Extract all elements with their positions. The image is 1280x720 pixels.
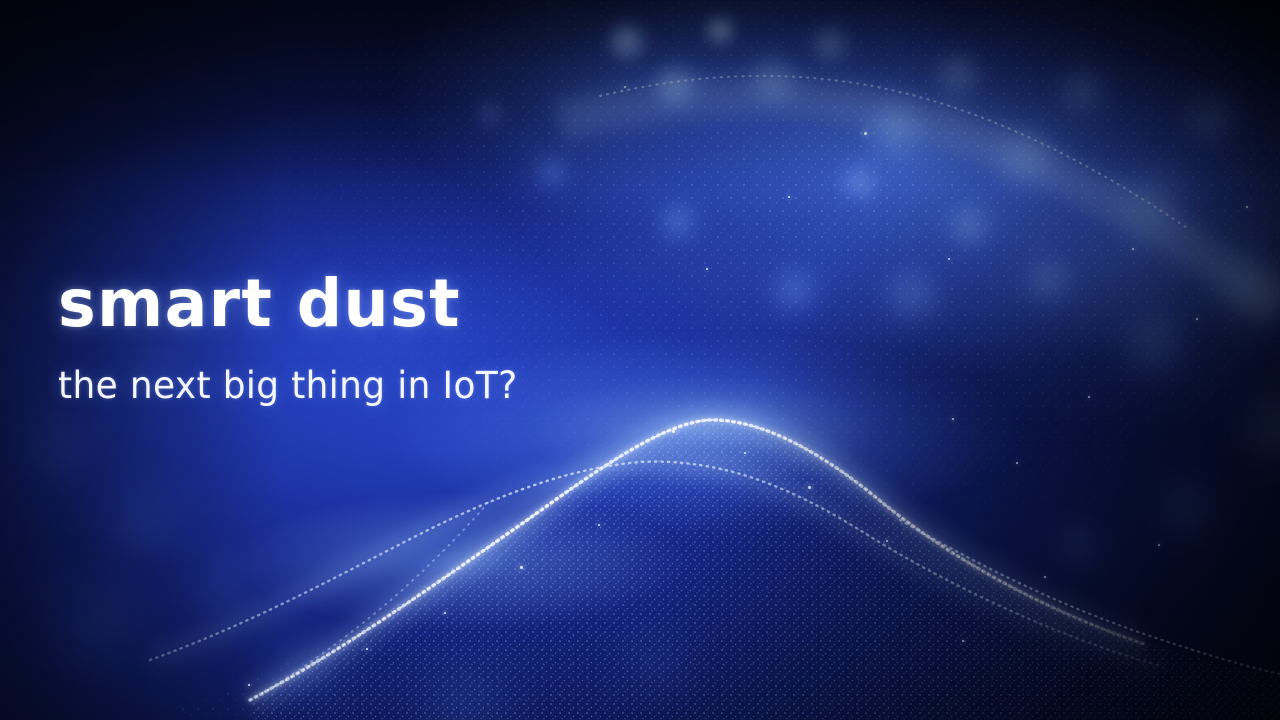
page-title: smart dust <box>58 268 513 340</box>
page-subtitle: the next big thing in IoT? <box>58 364 518 408</box>
title-text-block: smart dust the next big thing in IoT? <box>58 268 532 408</box>
title-card: smart dust the next big thing in IoT? <box>0 0 1280 720</box>
